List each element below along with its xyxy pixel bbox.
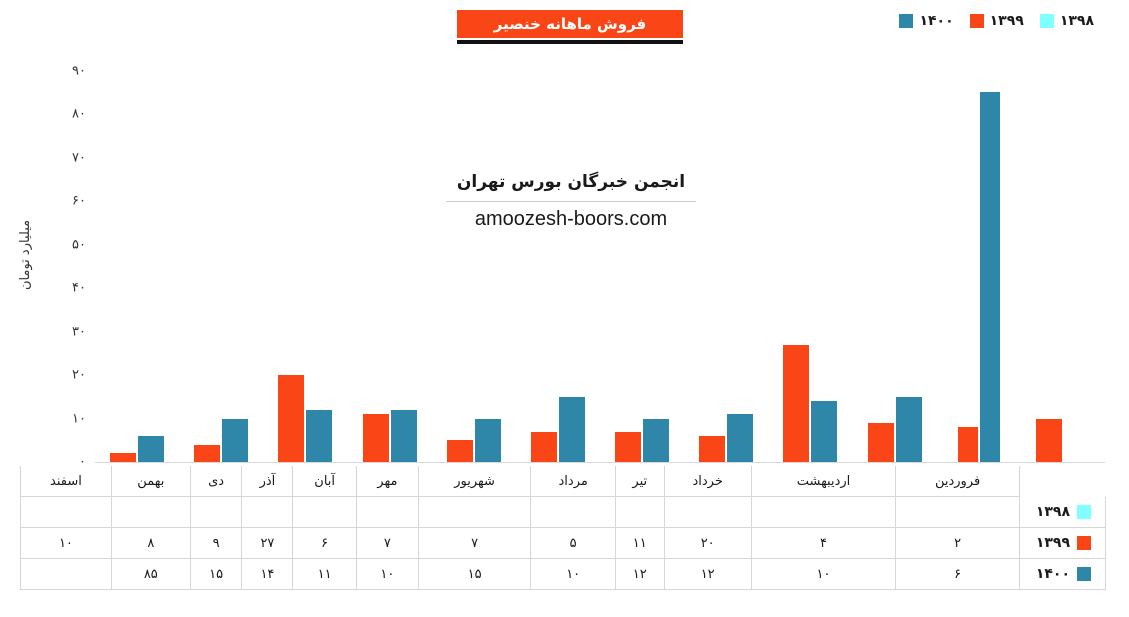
bar-1399 <box>783 345 809 462</box>
legend-swatch-icon <box>899 14 913 28</box>
table-cell <box>896 497 1020 528</box>
bar-group <box>853 50 937 462</box>
row-header-inner: ۱۴۰۰ <box>1022 566 1097 582</box>
row-header-inner: ۱۳۹۸ <box>1022 504 1097 520</box>
page-title: فروش ماهانه خنصیر <box>494 15 646 33</box>
table-cell: ۱۱ <box>293 559 356 590</box>
title-underline <box>457 40 683 44</box>
bar-1400 <box>980 92 1000 462</box>
bar-1399 <box>1036 419 1062 463</box>
row-header-series: ۱۳۹۹ <box>1020 528 1106 559</box>
table-cell: ۶ <box>896 559 1020 590</box>
bar-1400 <box>391 410 417 462</box>
column-header-month: اسفند <box>21 466 112 497</box>
chart-legend: ۱۳۹۸۱۳۹۹۱۴۰۰ <box>899 13 1094 29</box>
y-axis-tick-label: ۷۰ <box>52 150 86 165</box>
table-cell: ۱۰ <box>21 528 112 559</box>
table-cell: ۱۲ <box>615 559 664 590</box>
data-table-body: فروردیناردیبهشتخردادتیرمردادشهریورمهرآبا… <box>21 466 1106 590</box>
table-cell <box>190 497 242 528</box>
column-header-month: فروردین <box>896 466 1020 497</box>
bar-1399 <box>615 432 641 462</box>
series-swatch-icon <box>1077 536 1091 550</box>
chart-title-banner: فروش ماهانه خنصیر <box>457 10 683 38</box>
table-cell <box>21 497 112 528</box>
bar-group <box>768 50 852 462</box>
bar-group <box>179 50 263 462</box>
table-cell: ۸ <box>111 528 190 559</box>
table-cell: ۶ <box>293 528 356 559</box>
y-axis-tick-label: ۲۰ <box>52 368 86 383</box>
table-cell: ۱۵ <box>190 559 242 590</box>
bar-group <box>600 50 684 462</box>
y-axis-tick-label: ۳۰ <box>52 324 86 339</box>
bar-1400 <box>896 397 922 462</box>
row-header-series: ۱۴۰۰ <box>1020 559 1106 590</box>
row-header-inner: ۱۳۹۹ <box>1022 535 1097 551</box>
table-cell: ۵ <box>531 528 616 559</box>
bar-group <box>937 50 1021 462</box>
bar-1399 <box>363 414 389 462</box>
legend-item: ۱۴۰۰ <box>899 13 953 29</box>
x-axis-baseline <box>95 462 1105 463</box>
bar-1399 <box>110 453 136 462</box>
table-cell: ۱۱ <box>615 528 664 559</box>
bar-group <box>516 50 600 462</box>
bar-1400 <box>811 401 837 462</box>
bar-1400 <box>559 397 585 462</box>
table-cell: ۴ <box>751 528 895 559</box>
bar-1400 <box>475 419 501 463</box>
y-axis-tick-label: ۵۰ <box>52 237 86 252</box>
bar-group <box>684 50 768 462</box>
column-header-month: اردیبهشت <box>751 466 895 497</box>
table-cell: ۱۲ <box>664 559 751 590</box>
data-table: فروردیناردیبهشتخردادتیرمردادشهریورمهرآبا… <box>20 466 1106 590</box>
legend-swatch-icon <box>970 14 984 28</box>
legend-item: ۱۳۹۹ <box>970 13 1024 29</box>
series-name-label: ۱۳۹۸ <box>1036 504 1070 520</box>
column-header-month: مرداد <box>531 466 616 497</box>
table-cell: ۱۰ <box>356 559 418 590</box>
table-cell <box>293 497 356 528</box>
bar-1399 <box>868 423 894 462</box>
column-header-month: آبان <box>293 466 356 497</box>
bar-1400 <box>643 419 669 463</box>
table-cell: ۹ <box>190 528 242 559</box>
table-row: ۱۴۰۰۶۱۰۱۲۱۲۱۰۱۵۱۰۱۱۱۴۱۵۸۵ <box>21 559 1106 590</box>
bar-group <box>432 50 516 462</box>
bar-1399 <box>194 445 220 462</box>
table-corner-cell <box>1020 466 1106 497</box>
bar-group <box>95 50 179 462</box>
column-header-month: آذر <box>242 466 293 497</box>
bar-1399 <box>531 432 557 462</box>
bar-1399 <box>958 427 978 462</box>
legend-label: ۱۳۹۸ <box>1060 13 1094 29</box>
table-cell <box>751 497 895 528</box>
series-name-label: ۱۳۹۹ <box>1036 535 1070 551</box>
table-cell: ۲۰ <box>664 528 751 559</box>
y-axis-tick-label: ۴۰ <box>52 281 86 296</box>
series-swatch-icon <box>1077 505 1091 519</box>
bar-1399 <box>278 375 304 462</box>
series-swatch-icon <box>1077 567 1091 581</box>
column-header-month: خرداد <box>664 466 751 497</box>
bar-1400 <box>727 414 753 462</box>
table-cell: ۷ <box>418 528 531 559</box>
legend-swatch-icon <box>1040 14 1054 28</box>
table-cell: ۷ <box>356 528 418 559</box>
y-axis-tick-label: ۹۰ <box>52 63 86 78</box>
bar-1399 <box>447 440 473 462</box>
bar-group <box>1021 50 1105 462</box>
table-cell <box>664 497 751 528</box>
legend-label: ۱۴۰۰ <box>919 13 953 29</box>
bar-1399 <box>699 436 725 462</box>
bar-1400 <box>222 419 248 463</box>
table-cell: ۲۷ <box>242 528 293 559</box>
bar-group <box>263 50 347 462</box>
table-cell: ۱۴ <box>242 559 293 590</box>
table-cell <box>615 497 664 528</box>
y-axis-tick-label: ۶۰ <box>52 194 86 209</box>
table-cell <box>356 497 418 528</box>
series-name-label: ۱۴۰۰ <box>1036 566 1070 582</box>
column-header-month: تیر <box>615 466 664 497</box>
y-axis-title: میلیارد تومان <box>18 220 33 290</box>
column-header-month: بهمن <box>111 466 190 497</box>
bar-1400 <box>306 410 332 462</box>
y-axis-tick-label: ۸۰ <box>52 107 86 122</box>
table-cell: ۱۰ <box>531 559 616 590</box>
table-header-row: فروردیناردیبهشتخردادتیرمردادشهریورمهرآبا… <box>21 466 1106 497</box>
column-header-month: شهریور <box>418 466 531 497</box>
bar-1400 <box>138 436 164 462</box>
legend-label: ۱۳۹۹ <box>990 13 1024 29</box>
table-row: ۱۳۹۸ <box>21 497 1106 528</box>
table-cell <box>111 497 190 528</box>
table-row: ۱۳۹۹۲۴۲۰۱۱۵۷۷۶۲۷۹۸۱۰ <box>21 528 1106 559</box>
table-cell <box>418 497 531 528</box>
bar-group <box>348 50 432 462</box>
column-header-month: دی <box>190 466 242 497</box>
table-cell: ۱۵ <box>418 559 531 590</box>
table-cell <box>242 497 293 528</box>
table-cell <box>21 559 112 590</box>
table-cell <box>531 497 616 528</box>
column-header-month: مهر <box>356 466 418 497</box>
legend-item: ۱۳۹۸ <box>1040 13 1094 29</box>
y-axis-tick-label: ۱۰ <box>52 411 86 426</box>
plot-area <box>95 50 1105 462</box>
row-header-series: ۱۳۹۸ <box>1020 497 1106 528</box>
table-cell: ۸۵ <box>111 559 190 590</box>
table-cell: ۱۰ <box>751 559 895 590</box>
table-cell: ۲ <box>896 528 1020 559</box>
